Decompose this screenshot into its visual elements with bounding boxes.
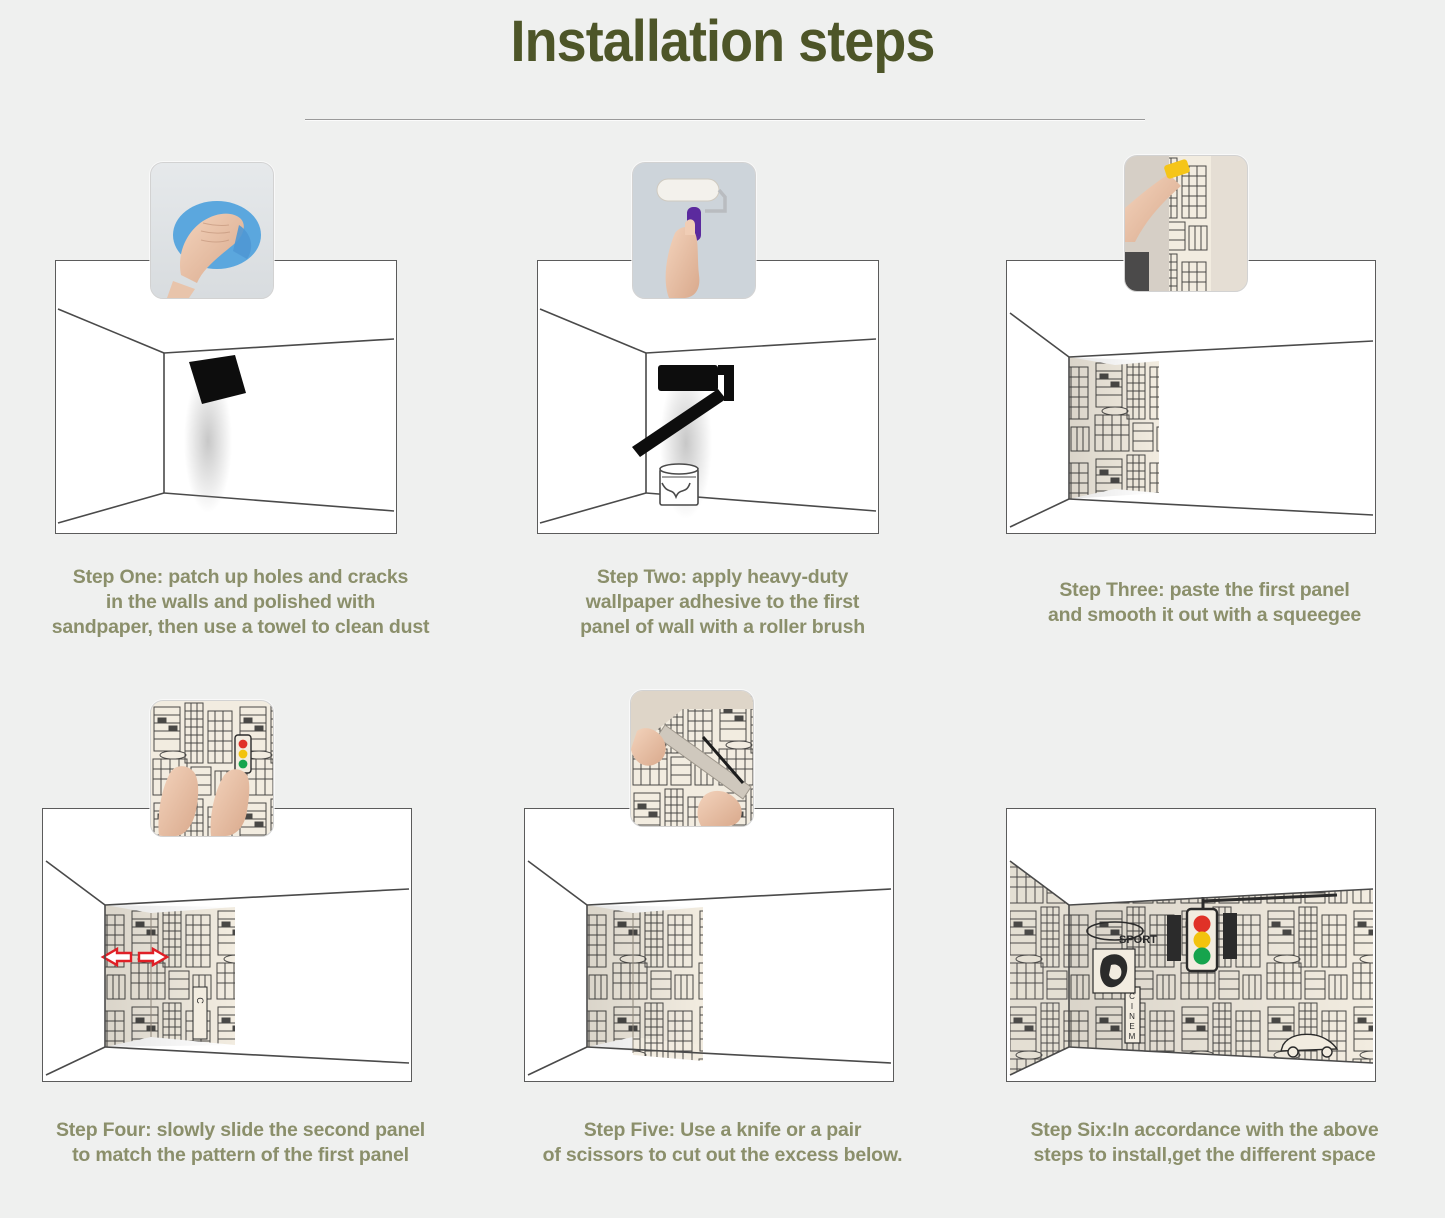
step-card-five: Step Five: Use a knife or a pair of scis… <box>482 698 963 1218</box>
panels-with-excess <box>587 905 703 1061</box>
step-card-three: Step Three: paste the first panel and sm… <box>964 150 1445 670</box>
caption-line: Step Four: slowly slide the second panel <box>0 1118 481 1143</box>
svg-text:N: N <box>1129 1012 1135 1021</box>
caption-line: Step Three: paste the first panel <box>964 578 1445 603</box>
room-illustration-step-three <box>1006 260 1376 534</box>
inset-photo-step-one <box>150 162 274 299</box>
inset-photo-step-two <box>632 162 756 299</box>
roller-sleeve <box>657 179 719 201</box>
steps-row-bottom: C <box>0 698 1445 1218</box>
caption-line: panel of wall with a roller brush <box>482 615 963 640</box>
caption-step-one: Step One: patch up holes and cracks in t… <box>0 565 481 640</box>
caption-line: Step Two: apply heavy-duty <box>482 565 963 590</box>
step-card-six: SPORT C I N E M <box>964 698 1445 1218</box>
svg-text:M: M <box>1129 1032 1136 1041</box>
first-wallpaper-panel <box>1069 357 1159 499</box>
caption-line: Step Six:In accordance with the above <box>964 1118 1445 1143</box>
svg-text:I: I <box>1131 1002 1133 1011</box>
page-title: Installation steps <box>51 8 1395 75</box>
caption-step-two: Step Two: apply heavy-duty wallpaper adh… <box>482 565 963 640</box>
caption-line: and smooth it out with a squeegee <box>964 603 1445 628</box>
paint-bucket <box>660 464 698 505</box>
step-card-two: Step Two: apply heavy-duty wallpaper adh… <box>482 150 963 670</box>
caption-line: sandpaper, then use a towel to clean dus… <box>0 615 481 640</box>
caption-step-six: Step Six:In accordance with the above st… <box>964 1118 1445 1168</box>
caption-step-five: Step Five: Use a knife or a pair of scis… <box>482 1118 963 1168</box>
sport-label: SPORT <box>1119 934 1157 946</box>
header-divider <box>305 119 1145 120</box>
room-illustration-step-two <box>537 260 879 534</box>
room-illustration-step-five <box>524 808 894 1082</box>
svg-text:E: E <box>1129 1022 1134 1031</box>
caption-step-four: Step Four: slowly slide the second panel… <box>0 1118 481 1168</box>
traffic-light-icon <box>235 735 251 773</box>
svg-text:C: C <box>195 997 205 1005</box>
caption-line: to match the pattern of the first panel <box>0 1143 481 1168</box>
cinema-sign: C I N E M <box>1125 987 1140 1043</box>
caption-line: of scissors to cut out the excess below. <box>482 1143 963 1168</box>
two-wallpaper-panels <box>105 905 235 1047</box>
room-illustration-step-four: C <box>42 808 412 1082</box>
cinema-sign: C <box>193 987 207 1039</box>
inset-photo-step-three <box>1124 155 1248 292</box>
caption-line: steps to install,get the different space <box>964 1143 1445 1168</box>
installation-steps-infographic: Installation steps <box>0 0 1445 1217</box>
caption-line: Step One: patch up holes and cracks <box>0 565 481 590</box>
step-card-four: C <box>0 698 481 1218</box>
caption-step-three: Step Three: paste the first panel and sm… <box>964 578 1445 628</box>
inset-photo-step-four <box>150 700 274 837</box>
caption-line: in the walls and polished with <box>0 590 481 615</box>
room-illustration-step-six: SPORT C I N E M <box>1006 808 1376 1082</box>
steps-row-top: Step One: patch up holes and cracks in t… <box>0 150 1445 670</box>
step-card-one: Step One: patch up holes and cracks in t… <box>0 150 481 670</box>
room-illustration-step-one <box>55 260 397 534</box>
billboard-face <box>1093 949 1135 993</box>
inset-photo-step-five <box>630 690 754 827</box>
steps-grid: Step One: patch up holes and cracks in t… <box>0 150 1445 1218</box>
caption-line: Step Five: Use a knife or a pair <box>482 1118 963 1143</box>
caption-line: wallpaper adhesive to the first <box>482 590 963 615</box>
